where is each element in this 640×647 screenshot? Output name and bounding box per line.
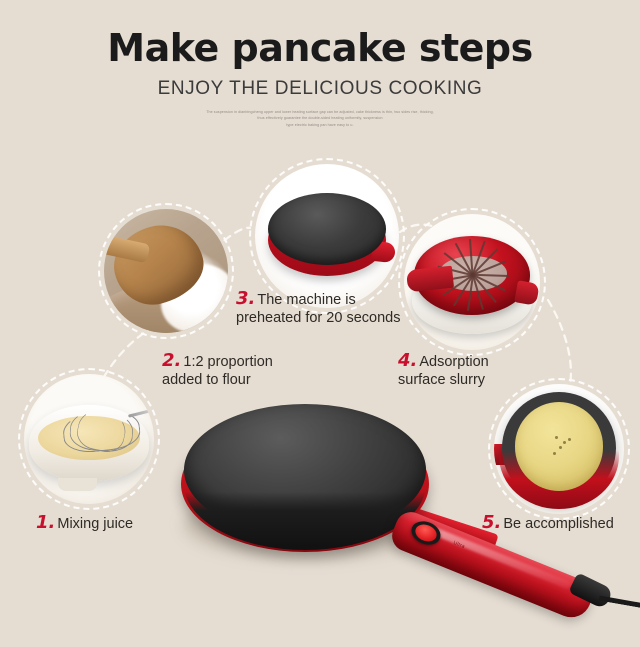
pan-tab-right: [514, 280, 539, 305]
step-1-caption: 1.Mixing juice: [36, 512, 133, 534]
step-4-line-2: surface slurry: [398, 372, 489, 390]
black-pan-preheating-photo: [255, 164, 399, 308]
step-4-line-1: Adsorption: [419, 354, 488, 370]
blurb-line-2: thus effectively guarantee the double-si…: [257, 116, 382, 120]
step-2-line-1: 1:2 proportion: [183, 354, 272, 370]
step-2-number: 2.: [162, 350, 181, 371]
description-paragraph: The suspension in dianbingcheng upper an…: [170, 109, 470, 128]
pan-black-surface: [268, 193, 386, 265]
blurb-line-3: type electric baking pan have easy to u.: [286, 123, 353, 127]
whisk-handle: [128, 409, 151, 417]
poster-header: Make pancake steps ENJOY THE DELICIOUS C…: [0, 0, 640, 128]
page-subtitle: ENJOY THE DELICIOUS COOKING: [0, 78, 640, 100]
step-5-line-1: Be accomplished: [503, 516, 613, 532]
step-2-photo-circle: [98, 203, 234, 339]
step-1-photo-circle: [18, 368, 160, 510]
page-title: Make pancake steps: [0, 0, 640, 70]
step-3-line-1: The machine is: [257, 292, 355, 308]
step-3-number: 3.: [236, 288, 255, 309]
pancake-steps-poster: Make pancake steps ENJOY THE DELICIOUS C…: [0, 0, 640, 640]
whisk-icon: [63, 410, 138, 449]
whisk-in-batter-bowl-photo: [24, 374, 154, 504]
step-5-number: 5.: [482, 512, 501, 533]
step-5-caption: 5.Be accomplished: [482, 512, 614, 534]
step-2-caption: 2.1:2 proportion added to flour: [162, 350, 273, 390]
step-3-line-2: preheated for 20 seconds: [236, 310, 400, 328]
step-2-line-2: added to flour: [162, 372, 273, 390]
bowl-foot: [58, 478, 97, 491]
pan-dipped-in-slurry-photo: [404, 214, 540, 350]
step-3-caption: 3.The machine is preheated for 20 second…: [236, 288, 400, 328]
step-4-photo-circle: [398, 208, 546, 356]
flour-with-wooden-scoop-photo: [104, 209, 228, 333]
step-1-number: 1.: [36, 512, 55, 533]
step-4-caption: 4.Adsorption surface slurry: [398, 350, 489, 390]
blurb-line-1: The suspension in dianbingcheng upper an…: [206, 110, 434, 114]
pan-edge-shading: [184, 418, 426, 550]
step-4-number: 4.: [398, 350, 417, 371]
step-1-line-1: Mixing juice: [57, 516, 133, 532]
